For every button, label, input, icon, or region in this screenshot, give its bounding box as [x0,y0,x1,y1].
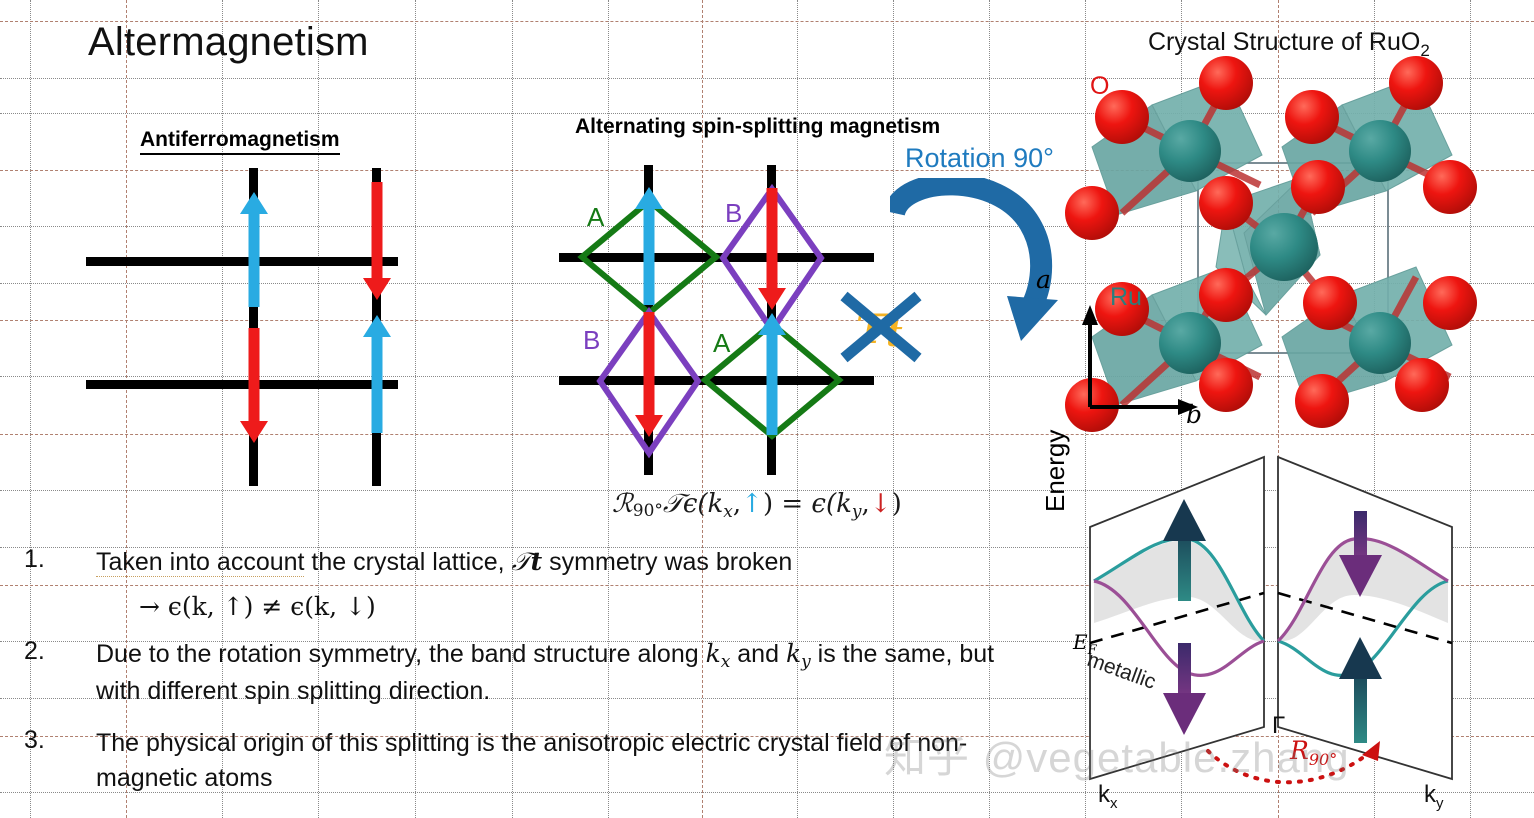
kx-symbol: k [706,639,721,668]
spin-arrow-up [636,187,662,305]
bullet-text-part: Due to the rotation symmetry, the band s… [96,640,706,668]
spin-arrow-up [241,192,267,307]
formula-paren: ) [892,489,902,519]
oxygen-label: O [1090,72,1109,101]
formula-comma: , [733,489,741,519]
spin-arrow-up [364,315,390,433]
kx-axis-label: kx [1098,781,1118,812]
broken-symmetry-icon: T t [838,288,926,366]
bullet-text: Due to the rotation symmetry, the band s… [96,637,1024,709]
bullet-number: 3. [14,726,96,795]
formula-comma: , [862,489,870,519]
ky-subscript: y [801,652,811,672]
ky-subscript: y [1436,795,1444,812]
bullet-text: Taken into account the crystal lattice, … [96,545,792,580]
page-title: Altermagnetism [88,20,369,65]
list-item: 2. Due to the rotation symmetry, the ban… [14,637,1024,709]
fermi-symbol: E [1073,630,1088,654]
antiferromagnetism-title: Antiferromagnetism [140,128,340,155]
spin-arrow-up [759,313,785,435]
formula-rotation-symbol: ℛ [612,489,633,519]
sub-formula: → ϵ(k, ↑) ≠ ϵ(k, ↓) [14,592,1024,621]
sublattice-label-a: A [713,328,730,359]
formula-rhs: ϵ(k [811,489,851,519]
script-t-symbol: 𝒯 [512,547,531,576]
kx-subscript: x [721,652,731,672]
ruthenium-label: Ru [1110,283,1142,312]
list-item: 3. The physical origin of this splitting… [14,726,1024,795]
symmetry-formula: ℛ90°𝒯ϵ(kx,↑) = ϵ(ky,↓) [612,489,902,522]
ky-symbol: k [1424,781,1436,808]
spin-arrow-down [636,312,662,437]
formula-rhs-subscript: y [852,502,862,522]
italic-t-symbol: t [531,547,543,576]
rotation-symbol: R [1290,736,1309,765]
sublattice-label-b: B [725,198,742,229]
ky-axis-label: ky [1424,781,1444,812]
spin-arrow-down [364,182,390,300]
band-energy-label: Energy [1040,430,1071,512]
gamma-point-label: Γ [1272,712,1285,740]
crystal-title-text: Crystal Structure of RuO [1148,28,1420,56]
band-structure-diagram [1022,445,1534,818]
sublattice-label-b: B [583,325,600,356]
list-item: 1. Taken into account the crystal lattic… [14,545,1024,580]
bullet-number: 1. [14,545,96,580]
kx-subscript: x [1110,795,1118,812]
bullet-list: 1. Taken into account the crystal lattic… [14,545,1024,809]
bullet-text-part: symmetry was broken [542,548,792,576]
formula-time-reversal-symbol: 𝒯 [663,489,683,519]
bullet-text-part: and [730,640,786,668]
spin-arrow-down [241,328,267,443]
rotation-subscript: 90° [1309,750,1337,769]
bullet-number: 2. [14,637,96,709]
rotation-operator-label: R90° [1290,736,1337,769]
axis-b-label: b [1186,400,1202,429]
formula-paren: ) [763,489,773,519]
formula-lhs: ϵ(k [683,489,723,519]
ky-symbol: k [786,639,801,668]
formula-lhs-subscript: x [723,502,733,522]
sublattice-label-a: A [587,202,604,233]
formula-equals: = [781,489,803,519]
band-plane [1090,457,1452,779]
bullet-text: The physical origin of this splitting is… [96,726,1024,795]
bullet-text-part: the crystal lattice, [304,548,511,576]
spin-arrow-down [759,188,785,310]
spin-down-glyph: ↓ [870,489,892,519]
spin-up-glyph: ↑ [741,489,763,519]
crystal-structure-diagram [1030,55,1530,445]
antiferromagnetism-diagram [80,160,410,490]
axis-a-label: a [1036,265,1051,294]
formula-rotation-subscript: 90° [633,501,663,521]
kx-symbol: k [1098,781,1110,808]
bullet-highlight-text: Taken into account [96,548,304,577]
alternating-spin-splitting-title: Alternating spin-splitting magnetism [575,115,940,139]
